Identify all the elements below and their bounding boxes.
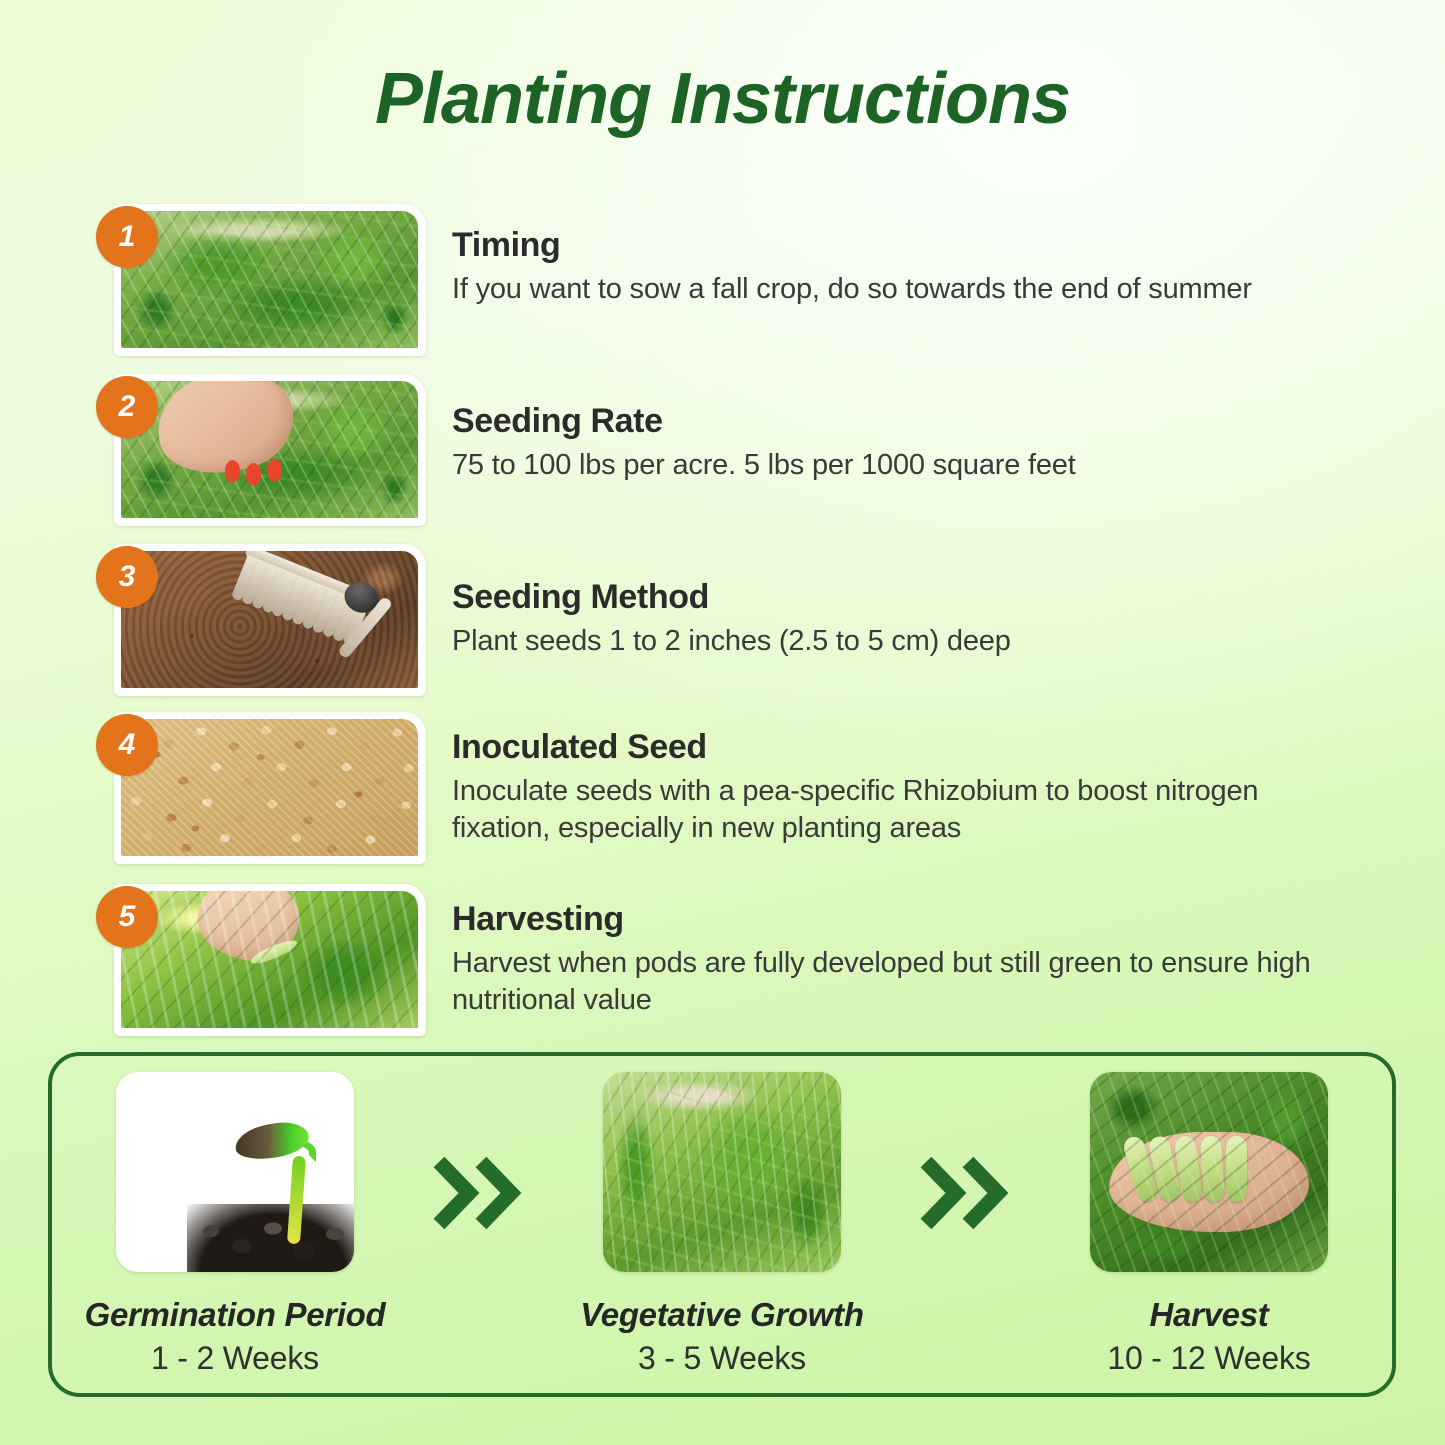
- step-1-photo-frame: [114, 204, 426, 356]
- step-2-title: Seeding Rate: [452, 402, 1076, 441]
- step-2-number-badge: 2: [96, 376, 158, 438]
- step-1-description: If you want to sow a fall crop, do so to…: [452, 271, 1252, 308]
- step-4-text: Inoculated Seed Inoculate seeds with a p…: [426, 708, 1445, 847]
- step-5-text: Harvesting Harvest when pods are fully d…: [426, 880, 1445, 1019]
- step-3-number-badge: 3: [96, 546, 158, 608]
- hand-artwork: [121, 381, 418, 518]
- timeline-stage-vegetative: Vegetative Growth 3 - 5 Weeks: [557, 1072, 887, 1377]
- double-chevron-right-icon: [433, 1156, 525, 1235]
- step-5-description: Harvest when pods are fully developed bu…: [452, 945, 1355, 1019]
- seedling-sprout-photo: [116, 1072, 354, 1272]
- timeline-arrow-2: [887, 1156, 1044, 1235]
- step-3-photo-frame: [114, 544, 426, 696]
- timeline-stage-3-duration: 10 - 12 Weeks: [1107, 1340, 1310, 1377]
- step-1-number-badge: 1: [96, 206, 158, 268]
- step-2-photo-frame: [114, 374, 426, 526]
- hand-sowing-photo: [121, 381, 418, 518]
- pea-field-photo: [121, 211, 418, 348]
- step-5-photo-frame: [114, 884, 426, 1036]
- timeline-arrow-1: [400, 1156, 557, 1235]
- step-2-text: Seeding Rate 75 to 100 lbs per acre. 5 l…: [426, 370, 1166, 484]
- step-3-title: Seeding Method: [452, 578, 1011, 617]
- timeline-stage-2-label: Vegetative Growth: [580, 1296, 863, 1334]
- step-5-title: Harvesting: [452, 900, 1355, 939]
- planting-step-3: 3 Seeding Method Plant seeds 1 to 2 inch…: [0, 540, 1445, 708]
- step-4-number-badge: 4: [96, 714, 158, 776]
- timeline-stage-2-duration: 3 - 5 Weeks: [638, 1340, 806, 1377]
- timeline-stage-harvest: Harvest 10 - 12 Weeks: [1044, 1072, 1374, 1377]
- step-4-thumbnail-wrap: 4: [96, 708, 426, 868]
- step-4-description: Inoculate seeds with a pea-specific Rhiz…: [452, 773, 1355, 847]
- pea-plants-growing-photo: [603, 1072, 841, 1272]
- page-title: Planting Instructions: [0, 0, 1445, 140]
- step-1-text: Timing If you want to sow a fall crop, d…: [426, 200, 1342, 308]
- hand-picking-pod-photo: [121, 891, 418, 1028]
- planting-step-4: 4 Inoculated Seed Inoculate seeds with a…: [0, 708, 1445, 880]
- timeline-stage-1-duration: 1 - 2 Weeks: [151, 1340, 319, 1377]
- timeline-stage-1-label: Germination Period: [85, 1296, 386, 1334]
- step-4-photo-frame: [114, 712, 426, 864]
- pea-pods-artwork: [1090, 1072, 1328, 1272]
- step-2-thumbnail-wrap: 2: [96, 370, 426, 530]
- seedling-artwork: [116, 1072, 354, 1272]
- timeline-stage-3-label: Harvest: [1150, 1296, 1269, 1334]
- step-1-thumbnail-wrap: 1: [96, 200, 426, 360]
- planting-step-1: 1 Timing If you want to sow a fall crop,…: [0, 200, 1445, 370]
- growth-timeline-panel: Germination Period 1 - 2 Weeks Vegetativ…: [48, 1052, 1396, 1397]
- step-3-description: Plant seeds 1 to 2 inches (2.5 to 5 cm) …: [452, 623, 1011, 660]
- step-5-thumbnail-wrap: 5: [96, 880, 426, 1040]
- pea-field-artwork: [121, 211, 418, 348]
- step-3-text: Seeding Method Plant seeds 1 to 2 inches…: [426, 540, 1101, 660]
- planting-steps-list: 1 Timing If you want to sow a fall crop,…: [0, 200, 1445, 1040]
- harvest-hand-artwork: [121, 891, 418, 1028]
- double-chevron-right-icon: [920, 1156, 1012, 1235]
- step-1-title: Timing: [452, 226, 1252, 265]
- pea-seeds-photo: [121, 719, 418, 856]
- planting-step-2: 2 Seeding Rate 75 to 100 lbs per acre. 5…: [0, 370, 1445, 540]
- step-3-thumbnail-wrap: 3: [96, 540, 426, 700]
- planting-step-5: 5 Harvesting Harvest when pods are fully…: [0, 880, 1445, 1040]
- step-5-number-badge: 5: [96, 886, 158, 948]
- step-4-title: Inoculated Seed: [452, 728, 1355, 767]
- vegetative-growth-artwork: [603, 1072, 841, 1272]
- pea-seeds-artwork: [121, 719, 418, 856]
- rake-in-soil-photo: [121, 551, 418, 688]
- hand-holding-pea-pods-photo: [1090, 1072, 1328, 1272]
- step-2-description: 75 to 100 lbs per acre. 5 lbs per 1000 s…: [452, 447, 1076, 484]
- timeline-stage-germination: Germination Period 1 - 2 Weeks: [70, 1072, 400, 1377]
